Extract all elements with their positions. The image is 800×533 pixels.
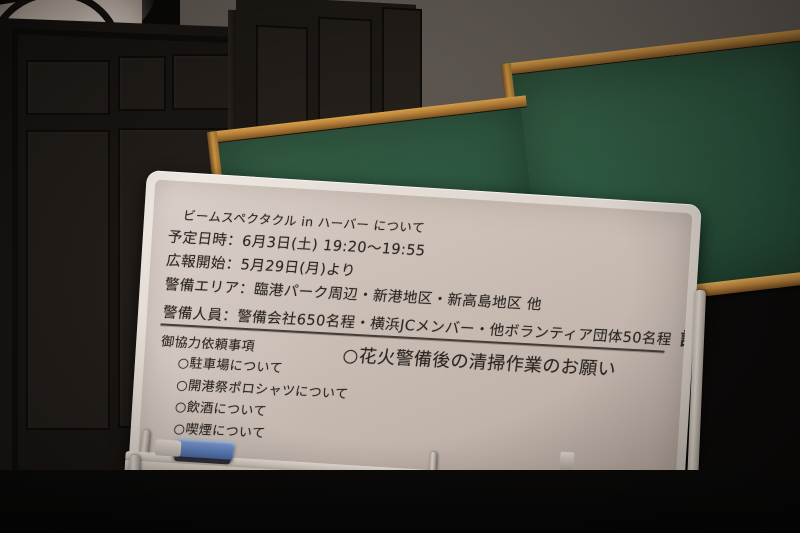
door-panel bbox=[172, 54, 234, 110]
door-panel bbox=[118, 56, 166, 111]
whiteboard-eraser[interactable] bbox=[172, 438, 235, 462]
tray-bracket-left bbox=[155, 439, 182, 457]
tray-bracket-right bbox=[559, 452, 574, 471]
bullet-item: ○駐車場について bbox=[177, 352, 285, 377]
floor-shadow bbox=[0, 470, 800, 533]
photo-scene: ビームスペクタクル in ハーバー について 予定日時：6月3日(土) 19:2… bbox=[0, 0, 800, 533]
bullet-item: ○飲酒について bbox=[174, 396, 268, 420]
section-heading: 御協力依頼事項 bbox=[160, 331, 256, 355]
door-panel bbox=[26, 60, 110, 115]
door-panel bbox=[26, 130, 110, 430]
